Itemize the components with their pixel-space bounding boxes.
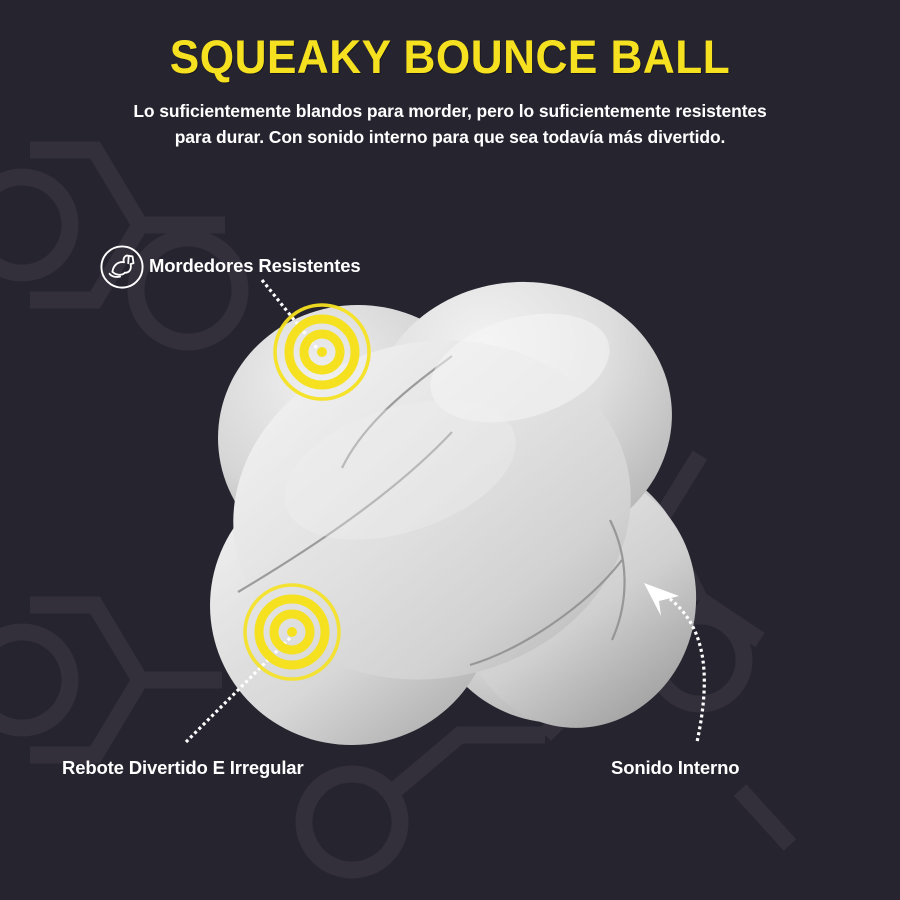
header-block: SQUEAKY BOUNCE BALL Lo suficientemente b… <box>0 0 900 151</box>
flexed-bicep-icon <box>99 244 145 290</box>
infographic-canvas: SQUEAKY BOUNCE BALL Lo suficientemente b… <box>0 0 900 900</box>
callout-label-irregular-bounce: Rebote Divertido E Irregular <box>62 757 304 779</box>
target-marker-durable-chew <box>275 305 369 399</box>
ball-lobe-group <box>196 272 709 759</box>
target-marker-irregular-bounce <box>245 585 339 679</box>
callout-label-internal-squeaker: Sonido Interno <box>611 757 739 779</box>
page-title: SQUEAKY BOUNCE BALL <box>27 32 873 81</box>
callout-label-durable-chew: Mordedores Resistentes <box>149 255 361 277</box>
page-subtitle: Lo suficientemente blandos para morder, … <box>120 99 780 151</box>
